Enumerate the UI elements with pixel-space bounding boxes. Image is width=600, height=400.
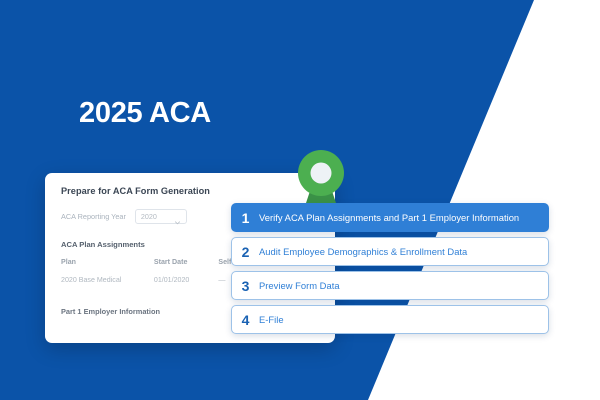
column-header-start-date: Start Date <box>154 258 219 275</box>
step-label-2: Audit Employee Demographics & Enrollment… <box>259 246 467 257</box>
cell-plan: 2020 Base Medical <box>61 275 154 286</box>
column-header-plan: Plan <box>61 258 154 275</box>
step-number-1: 1 <box>232 211 259 225</box>
step-item-1[interactable]: 1 Verify ACA Plan Assignments and Part 1… <box>231 203 549 232</box>
reporting-year-value: 2020 <box>141 212 157 221</box>
cell-start-date: 01/01/2020 <box>154 275 219 286</box>
reporting-year-select[interactable]: 2020 <box>135 209 187 224</box>
step-label-3: Preview Form Data <box>259 280 340 291</box>
page-title-line-1: 2025 ACA <box>79 97 211 129</box>
step-item-3[interactable]: 3 Preview Form Data <box>231 271 549 300</box>
steps-list: 1 Verify ACA Plan Assignments and Part 1… <box>231 203 549 339</box>
step-label-4: E-File <box>259 314 284 325</box>
step-number-2: 2 <box>232 245 259 259</box>
step-item-4[interactable]: 4 E-File <box>231 305 549 334</box>
step-label-1: Verify ACA Plan Assignments and Part 1 E… <box>259 212 519 223</box>
step-number-4: 4 <box>232 313 259 327</box>
reporting-year-label: ACA Reporting Year <box>61 212 126 221</box>
step-item-2[interactable]: 2 Audit Employee Demographics & Enrollme… <box>231 237 549 266</box>
chevron-down-icon <box>174 213 181 220</box>
step-number-3: 3 <box>232 279 259 293</box>
card-title: Prepare for ACA Form Generation <box>61 186 319 196</box>
slide-canvas: 2025 ACA Best Practices Prepare for ACA … <box>0 0 600 400</box>
